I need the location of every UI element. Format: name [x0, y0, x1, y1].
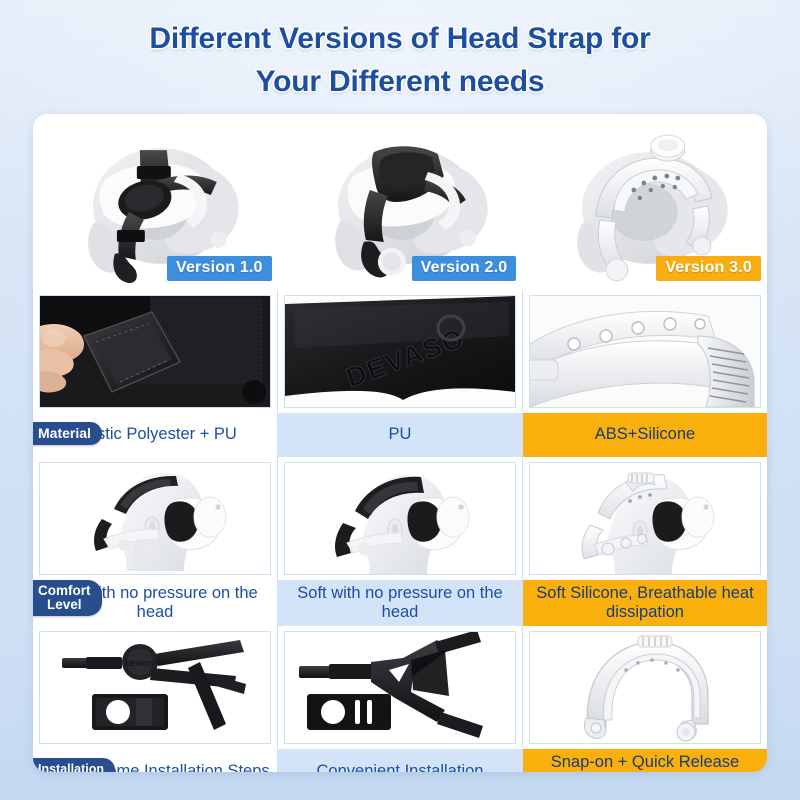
- material-col-3: ABS+Silicone: [522, 290, 767, 457]
- page-title: Different Versions of Head Strap for You…: [0, 0, 800, 103]
- row-label-comfort-line-2: Level: [38, 598, 91, 612]
- version-badge-1[interactable]: Version 1.0: [167, 256, 272, 281]
- installation-text-3: Snap-on + Quick Release Installation: [523, 749, 767, 772]
- version-cell-2[interactable]: Version 2.0: [278, 114, 523, 290]
- comfort-image-1: [39, 462, 271, 575]
- hand-holding-velcro-strap-image: [40, 296, 270, 407]
- black-strap-hub-parts-image: DEVASO: [40, 632, 270, 743]
- material-col-2: DEVASO PU: [277, 290, 522, 457]
- black-y-strap-parts-image: [285, 632, 515, 743]
- comfort-text-2: Soft with no pressure on the head: [278, 580, 522, 626]
- row-comfort-level: Comfort Level: [33, 457, 767, 626]
- installation-col-3: Snap-on + Quick Release Installation: [522, 626, 767, 772]
- installation-col-1: DEVASO: [33, 626, 277, 772]
- mannequin-head-v2-image: [285, 463, 515, 574]
- version-hero-row: Version 1.0: [33, 114, 767, 290]
- installation-text-2: Convenient Installation: [278, 749, 522, 772]
- mannequin-head-v1-image: [40, 463, 270, 574]
- version-badge-3[interactable]: Version 3.0: [656, 256, 761, 281]
- comfort-text-3: Soft Silicone, Breathable heat dissipati…: [523, 580, 767, 626]
- row-installation: Installation: [33, 626, 767, 772]
- version-cell-3[interactable]: Version 3.0: [522, 114, 767, 290]
- installation-image-3: [529, 631, 761, 744]
- white-arc-head-strap-image: [530, 632, 760, 743]
- comfort-image-3: [529, 462, 761, 575]
- installation-image-1: DEVASO: [39, 631, 271, 744]
- svg-text:DEVASO: DEVASO: [125, 661, 155, 668]
- row-material: Material: [33, 290, 767, 457]
- version-badge-2[interactable]: Version 2.0: [412, 256, 517, 281]
- page-title-line-2: Your Different needs: [0, 61, 800, 104]
- mannequin-head-v3-image: [530, 463, 760, 574]
- comfort-col-2: Soft with no pressure on the head: [277, 457, 522, 626]
- row-label-material: Material: [33, 422, 102, 445]
- row-label-installation: Installation: [33, 758, 115, 772]
- version-cell-1[interactable]: Version 1.0: [33, 114, 278, 290]
- material-image-2: DEVASO: [284, 295, 516, 408]
- row-label-comfort-level: Comfort Level: [33, 580, 102, 617]
- comfort-image-2: [284, 462, 516, 575]
- material-text-2: PU: [278, 413, 522, 457]
- material-text-3: ABS+Silicone: [523, 413, 767, 457]
- installation-col-2: Convenient Installation: [277, 626, 522, 772]
- row-label-material-line-1: Material: [38, 426, 91, 441]
- installation-image-2: [284, 631, 516, 744]
- comparison-card: Version 1.0: [33, 114, 767, 772]
- material-image-3: [529, 295, 761, 408]
- row-label-comfort-line-1: Comfort: [38, 584, 91, 598]
- row-label-installation-line-1: Installation: [38, 763, 104, 772]
- black-pu-surface-image: DEVASO: [285, 296, 515, 407]
- comfort-col-3: Soft Silicone, Breathable heat dissipati…: [522, 457, 767, 626]
- white-abs-strap-dial-image: [530, 296, 760, 407]
- page-title-line-1: Different Versions of Head Strap for: [0, 18, 800, 61]
- material-image-1: [39, 295, 271, 408]
